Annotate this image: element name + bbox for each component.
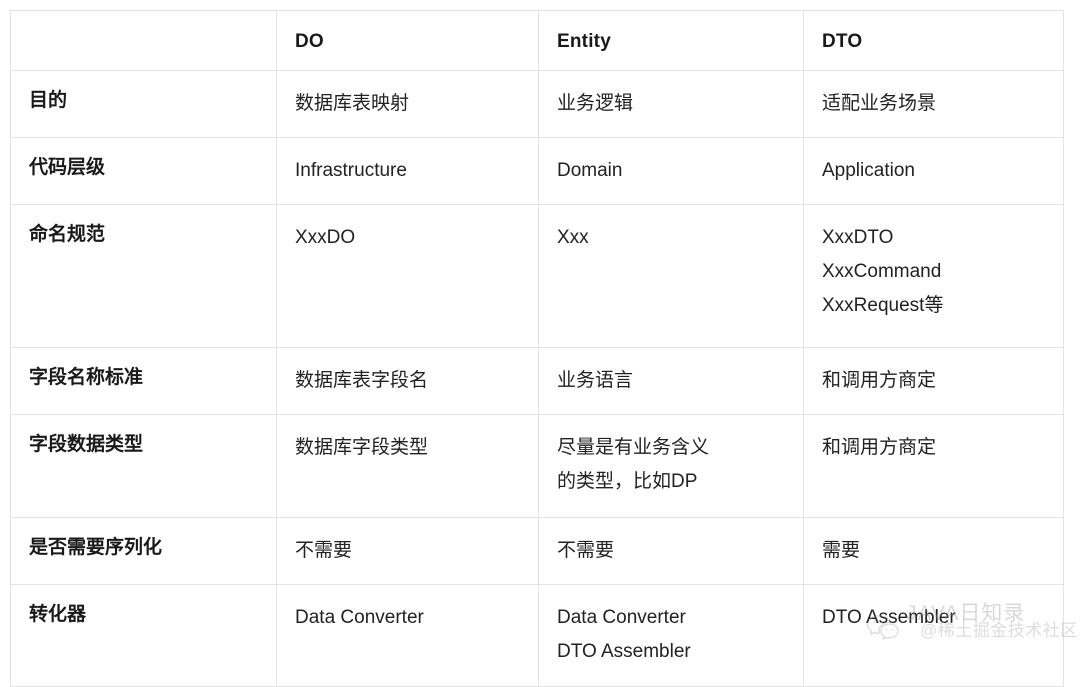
cell-entity: Xxx xyxy=(539,205,804,348)
cell-do: Data Converter xyxy=(277,585,539,687)
cell-text: 业务语言 xyxy=(557,364,785,398)
cell-dto: Application xyxy=(804,138,1064,205)
cell-entity: 业务逻辑 xyxy=(539,71,804,138)
cell-text: XxxRequest等 xyxy=(822,289,1045,323)
table-header: DO Entity DTO xyxy=(11,11,1064,71)
row-label-cell: 命名规范 xyxy=(11,205,277,348)
table-row: 字段数据类型 数据库字段类型 尽量是有业务含义 的类型，比如DP 和调用方商定 xyxy=(11,415,1064,518)
cell-text: 需要 xyxy=(822,534,1045,568)
row-label: 字段名称标准 xyxy=(29,367,143,388)
cell-text: DTO Assembler xyxy=(822,601,1045,635)
cell-do: XxxDO xyxy=(277,205,539,348)
cell-text: 数据库表映射 xyxy=(295,87,520,121)
table-row: 代码层级 Infrastructure Domain Application xyxy=(11,138,1064,205)
table-header-row: DO Entity DTO xyxy=(11,11,1064,71)
cell-entity: 业务语言 xyxy=(539,348,804,415)
comparison-table: DO Entity DTO 目的 数据库表映射 xyxy=(10,10,1064,687)
row-label: 代码层级 xyxy=(29,157,105,178)
cell-text: Data Converter xyxy=(557,601,785,635)
cell-entity: Domain xyxy=(539,138,804,205)
row-label: 字段数据类型 xyxy=(29,434,143,455)
row-label: 是否需要序列化 xyxy=(29,537,162,558)
cell-do: 数据库表字段名 xyxy=(277,348,539,415)
cell-dto: 和调用方商定 xyxy=(804,415,1064,518)
cell-text: 和调用方商定 xyxy=(822,364,1045,398)
row-label: 转化器 xyxy=(29,604,86,625)
column-header-entity: Entity xyxy=(539,11,804,71)
column-header-entity-label: Entity xyxy=(557,31,611,52)
cell-do: 不需要 xyxy=(277,518,539,585)
cell-do: 数据库字段类型 xyxy=(277,415,539,518)
cell-text: 不需要 xyxy=(295,534,520,568)
cell-dto: DTO Assembler xyxy=(804,585,1064,687)
cell-text: 不需要 xyxy=(557,534,785,568)
page-root: DO Entity DTO 目的 数据库表映射 xyxy=(0,0,1080,667)
column-header-dto-label: DTO xyxy=(822,31,862,52)
cell-dto: 和调用方商定 xyxy=(804,348,1064,415)
cell-dto: 适配业务场景 xyxy=(804,71,1064,138)
cell-text: 业务逻辑 xyxy=(557,87,785,121)
column-header-blank xyxy=(11,11,277,71)
comparison-table-container: DO Entity DTO 目的 数据库表映射 xyxy=(10,10,1063,652)
row-label-cell: 转化器 xyxy=(11,585,277,687)
cell-dto: 需要 xyxy=(804,518,1064,585)
cell-text: Data Converter xyxy=(295,601,520,635)
row-label-cell: 字段数据类型 xyxy=(11,415,277,518)
table-row: 转化器 Data Converter Data Converter DTO As… xyxy=(11,585,1064,687)
cell-text: 适配业务场景 xyxy=(822,87,1045,121)
cell-text: XxxCommand xyxy=(822,255,1045,289)
cell-text: DTO Assembler xyxy=(557,635,785,669)
cell-entity: 不需要 xyxy=(539,518,804,585)
column-header-do-label: DO xyxy=(295,31,324,52)
cell-text: 的类型，比如DP xyxy=(557,465,785,499)
cell-text: 数据库字段类型 xyxy=(295,431,520,465)
row-label-cell: 代码层级 xyxy=(11,138,277,205)
cell-text: Xxx xyxy=(557,221,785,255)
cell-text: 和调用方商定 xyxy=(822,431,1045,465)
cell-text: 尽量是有业务含义 xyxy=(557,431,785,465)
column-header-do: DO xyxy=(277,11,539,71)
row-label: 命名规范 xyxy=(29,224,105,245)
cell-text: 数据库表字段名 xyxy=(295,364,520,398)
cell-text: Domain xyxy=(557,154,785,188)
row-label-cell: 目的 xyxy=(11,71,277,138)
cell-text: Infrastructure xyxy=(295,154,520,188)
row-label-cell: 是否需要序列化 xyxy=(11,518,277,585)
table-row: 目的 数据库表映射 业务逻辑 适配业务场景 xyxy=(11,71,1064,138)
cell-dto: XxxDTO XxxCommand XxxRequest等 xyxy=(804,205,1064,348)
table-row: 命名规范 XxxDO Xxx XxxDTO XxxCommand XxxRequ… xyxy=(11,205,1064,348)
cell-entity: 尽量是有业务含义 的类型，比如DP xyxy=(539,415,804,518)
cell-do: Infrastructure xyxy=(277,138,539,205)
cell-entity: Data Converter DTO Assembler xyxy=(539,585,804,687)
table-row: 字段名称标准 数据库表字段名 业务语言 和调用方商定 xyxy=(11,348,1064,415)
column-header-dto: DTO xyxy=(804,11,1064,71)
cell-text: Application xyxy=(822,154,1045,188)
cell-do: 数据库表映射 xyxy=(277,71,539,138)
row-label-cell: 字段名称标准 xyxy=(11,348,277,415)
cell-text: XxxDO xyxy=(295,221,520,255)
row-label: 目的 xyxy=(29,90,67,111)
table-body: 目的 数据库表映射 业务逻辑 适配业务场景 代码层级 xyxy=(11,71,1064,687)
cell-text: XxxDTO xyxy=(822,221,1045,255)
table-row: 是否需要序列化 不需要 不需要 需要 xyxy=(11,518,1064,585)
